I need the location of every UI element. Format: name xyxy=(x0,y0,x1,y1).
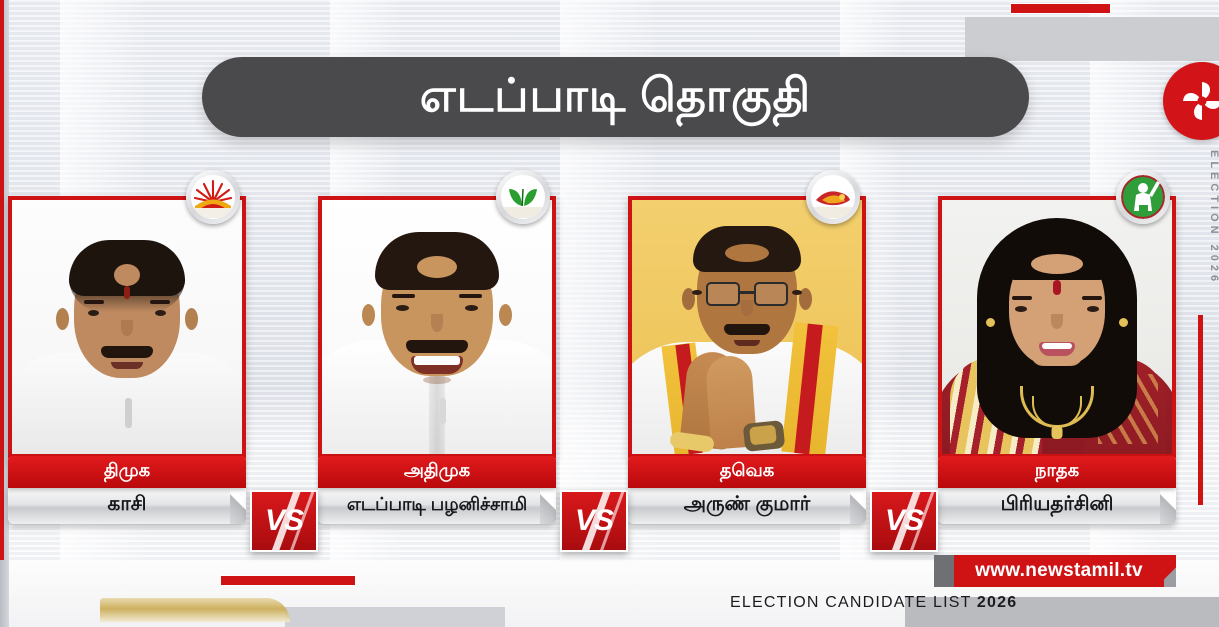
party-badge: தவெக xyxy=(628,456,866,488)
footer-caption: ELECTION CANDIDATE LIST 2026 xyxy=(730,594,1017,612)
candidate-name: எடப்பாடி பழனிச்சாமி xyxy=(347,494,527,519)
party-symbol-tvk xyxy=(806,170,860,224)
candidate-portrait xyxy=(632,200,862,454)
candidate-name-plate: எடப்பாடி பழனிச்சாமி xyxy=(318,488,556,524)
party-label: திமுக xyxy=(104,460,150,485)
candidate-name-plate: அருண் குமார் xyxy=(628,488,866,524)
versus-badge: VS xyxy=(560,490,628,552)
party-symbol-dmk xyxy=(186,170,240,224)
party-badge: அதிமுக xyxy=(318,456,556,488)
candidate-name-plate: காசி xyxy=(8,488,246,524)
candidate-card[interactable]: தவெக அருண் குமார் xyxy=(628,196,866,524)
candidate-card[interactable]: திமுக xyxy=(8,196,246,524)
candidate-photo-frame xyxy=(628,196,866,458)
candidate-name: பிரியதர்சினி xyxy=(1001,493,1114,520)
accent-bar-bottom-left xyxy=(220,575,356,586)
versus-badge: VS xyxy=(250,490,318,552)
background-gray-block-top-right xyxy=(965,17,1219,61)
candidate-photo-frame xyxy=(8,196,246,458)
website-banner-gray-cap xyxy=(934,555,954,587)
candidate-name: காசி xyxy=(108,493,147,520)
versus-badge: VS xyxy=(870,490,938,552)
two-leaves-symbol-icon xyxy=(502,176,544,218)
candidate-photo-frame xyxy=(938,196,1176,458)
page-title: எடப்பாடி தொகுதி xyxy=(420,72,812,122)
party-badge: திமுக xyxy=(8,456,246,488)
website-url: www.newstamil.tv xyxy=(975,560,1143,582)
footer-caption-year: 2026 xyxy=(977,594,1017,611)
background-gold-desk xyxy=(100,598,290,622)
accent-bar-top-right xyxy=(1010,3,1111,14)
candidate-name-plate: பிரியதர்சினி xyxy=(938,488,1176,524)
footer-caption-text: ELECTION CANDIDATE LIST xyxy=(730,594,977,611)
party-label: நாதக xyxy=(1035,460,1079,485)
constituency-title-bar: எடப்பாடி தொகுதி xyxy=(202,57,1029,137)
rising-sun-symbol-icon xyxy=(192,176,234,218)
pinwheel-icon xyxy=(1177,76,1219,126)
tvk-symbol-icon xyxy=(812,176,854,218)
ntk-symbol-icon xyxy=(1121,175,1165,219)
candidate-portrait xyxy=(322,200,552,454)
candidate-card[interactable]: நாதக பிரியதர்சினி xyxy=(938,196,1176,524)
party-label: தவெக xyxy=(720,460,774,485)
website-banner-body: www.newstamil.tv xyxy=(954,555,1164,587)
candidate-name: அருண் குமார் xyxy=(684,493,810,520)
party-symbol-aiadmk xyxy=(496,170,550,224)
candidate-list: திமுக xyxy=(0,196,1219,516)
party-symbol-ntk xyxy=(1116,170,1170,224)
background-gray-block-bottom-left xyxy=(285,607,505,627)
party-label: அதிமுக xyxy=(404,460,470,485)
website-banner[interactable]: www.newstamil.tv xyxy=(934,555,1176,587)
candidate-portrait xyxy=(12,200,242,454)
candidate-photo-frame xyxy=(318,196,556,458)
party-badge: நாதக xyxy=(938,456,1176,488)
website-banner-tail xyxy=(1164,555,1176,587)
candidate-card[interactable]: அதிமுக எடப்பாடி பழனிச்சாமி xyxy=(318,196,556,524)
candidate-portrait xyxy=(942,200,1172,454)
